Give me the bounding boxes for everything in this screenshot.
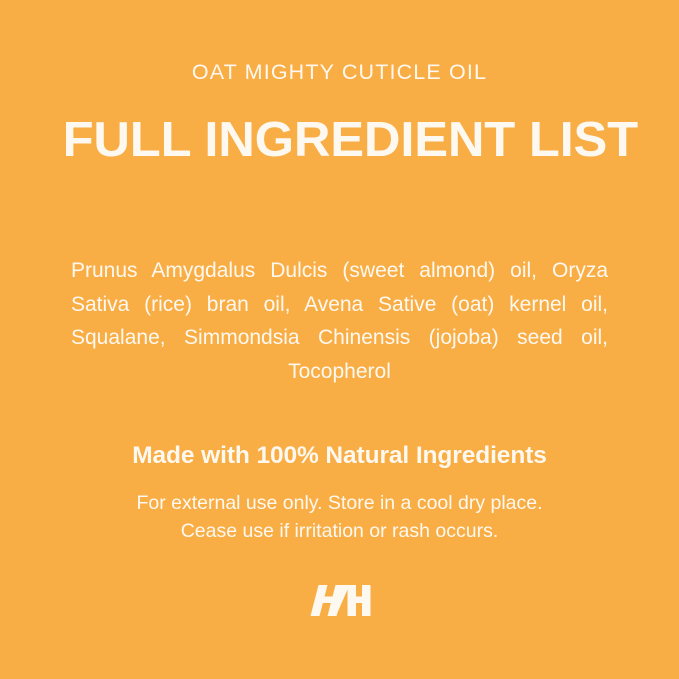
ingredients-paragraph: Prunus Amygdalus Dulcis (sweet almond) o… [71,254,608,388]
ingredients-block: Prunus Amygdalus Dulcis (sweet almond) o… [71,233,608,409]
hh-monogram-logo: HH [0,578,679,620]
usage-warning-line-1: For external use only. Store in a cool d… [80,489,600,517]
ingredient-label-card: OAT MIGHTY CUTICLE OIL FULL INGREDIENT L… [0,0,679,679]
usage-warning-line-2: Cease use if irritation or rash occurs. [80,517,600,545]
hh-monogram-icon [309,578,371,620]
product-subtitle: OAT MIGHTY CUTICLE OIL [72,60,608,86]
usage-warning-block: For external use only. Store in a cool d… [80,489,600,545]
page-title: FULL INGREDIENT LIST [62,115,617,166]
natural-ingredients-claim: Made with 100% Natural Ingredients [60,441,620,470]
